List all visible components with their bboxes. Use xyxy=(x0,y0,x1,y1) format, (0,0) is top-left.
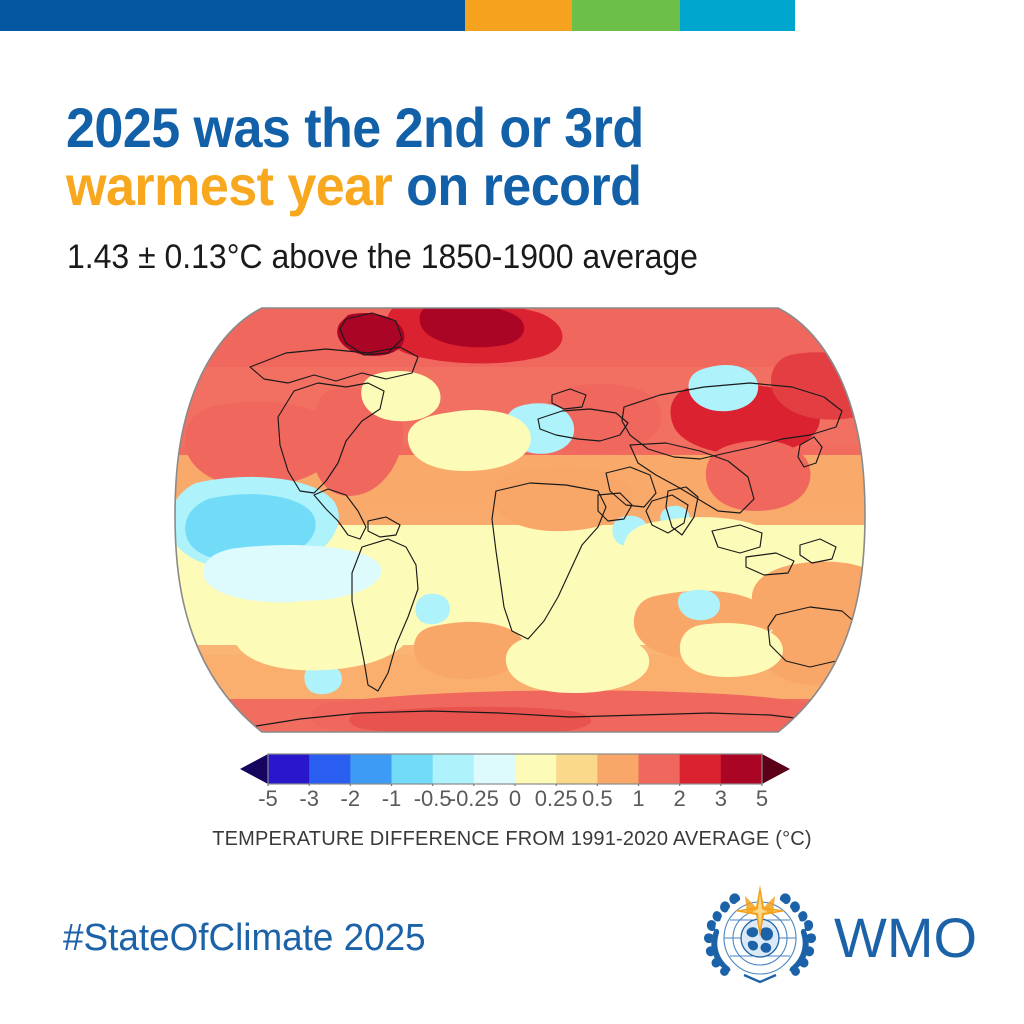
colorbar xyxy=(238,752,792,786)
map-anomaly-field xyxy=(160,295,891,745)
brand-bar-segment-empty xyxy=(795,0,1024,31)
colorbar-over-arrow xyxy=(762,754,790,784)
infographic-page: 2025 was the 2nd or 3rd warmest year on … xyxy=(0,0,1024,1024)
brand-bar-segment-orange xyxy=(465,0,572,31)
colorbar-bin xyxy=(515,754,557,784)
colorbar-bin xyxy=(680,754,722,784)
compass-star-icon xyxy=(734,885,786,937)
colorbar-bin xyxy=(639,754,681,784)
colorbar-tick-label: 0 xyxy=(509,786,521,812)
colorbar-tick-label: -2 xyxy=(341,786,361,812)
headline-highlight: warmest year xyxy=(66,154,392,217)
colorbar-tick-label: 5 xyxy=(756,786,768,812)
colorbar-tick-labels: -5-3-2-1-0.5-0.2500.250.51235 xyxy=(238,786,792,814)
colorbar-tick-label: 0.5 xyxy=(582,786,613,812)
colorbar-bin xyxy=(556,754,598,784)
hashtag-text[interactable]: #StateOfClimate 2025 xyxy=(63,917,426,960)
brand-color-bar xyxy=(0,0,1024,31)
colorbar-bin xyxy=(433,754,475,784)
brand-bar-segment-cyan xyxy=(680,0,795,31)
colorbar-bin xyxy=(309,754,351,784)
colorbar-blocks xyxy=(268,754,762,784)
colorbar-under-arrow xyxy=(240,754,268,784)
headline-line-2-rest: on record xyxy=(392,154,641,217)
brand-bar-segment-green xyxy=(572,0,680,31)
colorbar-bin xyxy=(721,754,763,784)
colorbar-tick-label: -1 xyxy=(382,786,402,812)
colorbar-tick-label: 1 xyxy=(632,786,644,812)
colorbar-bin xyxy=(392,754,434,784)
headline-block: 2025 was the 2nd or 3rd warmest year on … xyxy=(66,99,966,215)
colorbar-tick-label: 3 xyxy=(715,786,727,812)
colorbar-tick-label: -0.5 xyxy=(414,786,452,812)
colorbar-bin xyxy=(474,754,516,784)
colorbar-tick-label: 0.25 xyxy=(535,786,578,812)
brand-bar-segment-blue xyxy=(0,0,465,31)
wmo-wordmark: WMO xyxy=(834,906,977,969)
colorbar-tick-label: -0.25 xyxy=(449,786,499,812)
colorbar-caption: TEMPERATURE DIFFERENCE FROM 1991-2020 AV… xyxy=(0,828,1024,851)
colorbar-tick-label: 2 xyxy=(674,786,686,812)
colorbar-bin xyxy=(268,754,310,784)
global-temperature-anomaly-map xyxy=(100,295,940,745)
colorbar-tick-label: -5 xyxy=(258,786,278,812)
colorbar-tick-label: -3 xyxy=(299,786,319,812)
headline-line-1: 2025 was the 2nd or 3rd xyxy=(66,99,903,157)
wreath-base-icon xyxy=(744,975,776,982)
colorbar-bin xyxy=(350,754,392,784)
wmo-logo[interactable]: WMO xyxy=(700,883,980,988)
colorbar-bin xyxy=(597,754,639,784)
headline-line-2: warmest year on record xyxy=(66,157,903,215)
subtitle-text: 1.43 ± 0.13°C above the 1850-1900 averag… xyxy=(67,238,698,277)
